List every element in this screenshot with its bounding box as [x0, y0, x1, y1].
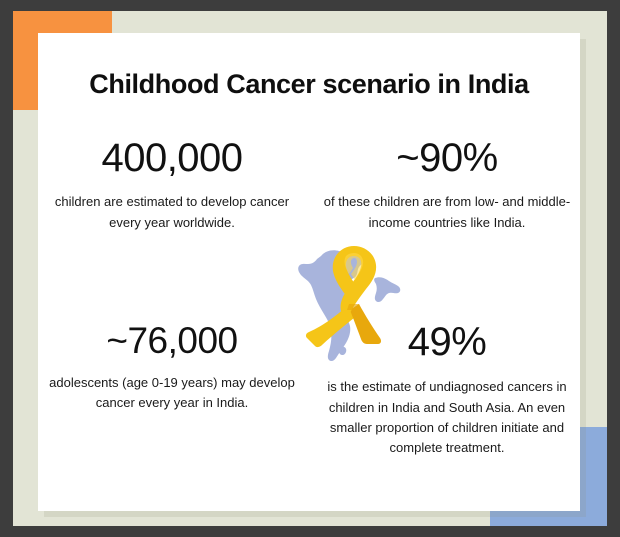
stat-description: of these children are from low- and midd… [323, 192, 571, 232]
stat-description: children are estimated to develop cancer… [48, 192, 296, 232]
page-title: Childhood Cancer scenario in India [38, 69, 580, 100]
stat-number: 400,000 [48, 137, 296, 179]
stat-block-low-middle-income-share: ~90% of these children are from low- and… [323, 137, 571, 233]
stat-description: adolescents (age 0-19 years) may develop… [48, 373, 296, 413]
center-graphic [287, 240, 419, 365]
poster-canvas: Childhood Cancer scenario in India 400,0… [13, 11, 607, 526]
stat-description: is the estimate of undiagnosed cancers i… [323, 377, 571, 458]
stat-block-global-children-cancer: 400,000 children are estimated to develo… [48, 137, 296, 233]
infographic-card: Childhood Cancer scenario in India 400,0… [38, 33, 580, 511]
stat-number: ~76,000 [48, 321, 296, 360]
stat-number: ~90% [323, 137, 571, 179]
stat-block-india-adolescents-cancer: ~76,000 adolescents (age 0-19 years) may… [48, 321, 296, 414]
poster-frame: Childhood Cancer scenario in India 400,0… [0, 0, 620, 537]
